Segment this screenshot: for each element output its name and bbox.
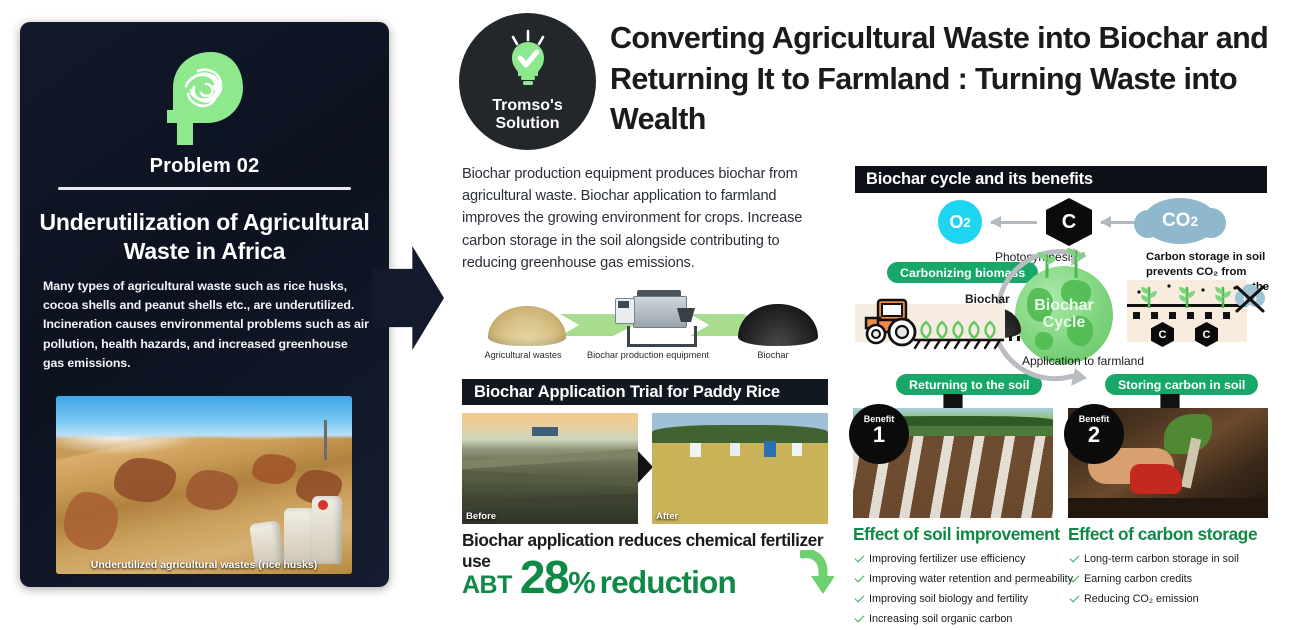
before-after-comparison: Before After <box>462 413 828 524</box>
photo-caption: Underutilized agricultural wastes (rice … <box>56 559 352 571</box>
co2-label: CO <box>1162 210 1191 232</box>
tractor-icon <box>860 292 1005 350</box>
biochar-cycle-diagram: O2 C CO2 Photosynthesis Carbon storage i… <box>855 196 1285 396</box>
badge-text: Tromso's Solution <box>459 97 596 133</box>
benefit-2-title: Effect of carbon storage <box>1068 524 1298 545</box>
list-item: Improving water retention and permeabili… <box>853 570 1083 590</box>
lightbulb-check-icon <box>504 29 552 100</box>
co2-cloud-icon: CO2 <box>1143 198 1217 244</box>
o2-label: O <box>949 212 963 233</box>
divider <box>58 187 351 190</box>
reduction-figure: ABT 28 % reduction <box>462 554 834 604</box>
head-with-tangled-thoughts-icon <box>20 50 389 155</box>
after-photo: After <box>652 413 828 524</box>
sprout-icon <box>1031 244 1097 278</box>
infographic-stage: Problem 02 Underutilization of Agricultu… <box>0 0 1300 609</box>
reduction-word: reduction <box>600 564 736 601</box>
rice-husk-photo: Underutilized agricultural wastes (rice … <box>56 396 352 574</box>
co2-sub: 2 <box>1190 214 1198 229</box>
problem-description: Many types of agricultural waste such as… <box>43 277 370 373</box>
problem-card: Problem 02 Underutilization of Agricultu… <box>20 22 389 587</box>
benefit-2-list: Long-term carbon storage in soil Earning… <box>1068 550 1298 610</box>
benefit-1-badge-number: 1 <box>849 424 909 446</box>
flow-caption-3: Biochar <box>714 350 832 360</box>
arrow-c-to-o2 <box>991 221 1037 224</box>
solution-description: Biochar production equipment produces bi… <box>462 163 834 274</box>
list-item: Reducing CO₂ emission <box>1068 590 1298 610</box>
trial-section-header: Biochar Application Trial for Paddy Rice <box>462 379 828 405</box>
list-item: Long-term carbon storage in soil <box>1068 550 1298 570</box>
reduction-value: 28 <box>520 554 568 600</box>
before-after-arrow-icon <box>638 451 653 483</box>
cycle-center-text: Biochar Cycle <box>1015 266 1113 364</box>
soil-dashes <box>1133 312 1241 319</box>
o2-molecule-icon: O2 <box>938 200 982 244</box>
carbon-label: C <box>1062 211 1076 234</box>
cycle-center-line2: Cycle <box>1043 314 1086 331</box>
abt-label: ABT <box>462 571 512 600</box>
problem-label: Problem 02 <box>20 155 389 178</box>
page-title: Underutilization of Agricultural Waste i… <box>36 208 373 267</box>
benefit-1-list: Improving fertilizer use efficiency Impr… <box>853 550 1083 630</box>
husk-pile-icon <box>488 306 566 346</box>
benefit-2-badge-number: 2 <box>1064 424 1124 446</box>
percent-symbol: % <box>568 565 595 601</box>
crops-icon <box>1133 282 1243 308</box>
headline: Converting Agricultural Waste into Bioch… <box>610 18 1270 140</box>
benefit-1-badge: Benefit 1 <box>849 404 909 464</box>
before-photo: Before <box>462 413 638 524</box>
badge-line-1: Tromso's <box>492 97 563 114</box>
application-to-farmland-label: Application to farmland <box>1018 354 1148 368</box>
list-item: Improving fertilizer use efficiency <box>853 550 1083 570</box>
cycle-center-line1: Biochar <box>1034 297 1094 314</box>
tromso-solution-badge: Tromso's Solution <box>459 13 596 150</box>
benefit-1-title: Effect of soil improvement <box>853 524 1083 545</box>
list-item: Increasing soil organic carbon <box>853 610 1083 630</box>
list-item: Improving soil biology and fertility <box>853 590 1083 610</box>
badge-line-2: Solution <box>496 115 560 132</box>
pyrolysis-machine-icon <box>607 288 699 346</box>
process-flow: Agricultural wastes Biochar production e… <box>462 288 834 366</box>
biochar-pile-icon <box>738 304 818 346</box>
flow-caption-2: Biochar production equipment <box>578 350 718 360</box>
after-label: After <box>656 511 678 522</box>
benefit-2-badge: Benefit 2 <box>1064 404 1124 464</box>
flow-caption-1: Agricultural wastes <box>464 350 582 360</box>
o2-sub: 2 <box>963 215 970 230</box>
list-item: Earning carbon credits <box>1068 570 1298 590</box>
carbon-hexagon-icon: C <box>1046 198 1092 246</box>
earth-globe-icon: Biochar Cycle <box>1015 266 1113 364</box>
downward-arrow-icon <box>800 550 834 596</box>
cycle-section-header: Biochar cycle and its benefits <box>855 166 1267 193</box>
no-co2-icon: CO <box>1230 282 1270 316</box>
before-label: Before <box>466 511 496 522</box>
